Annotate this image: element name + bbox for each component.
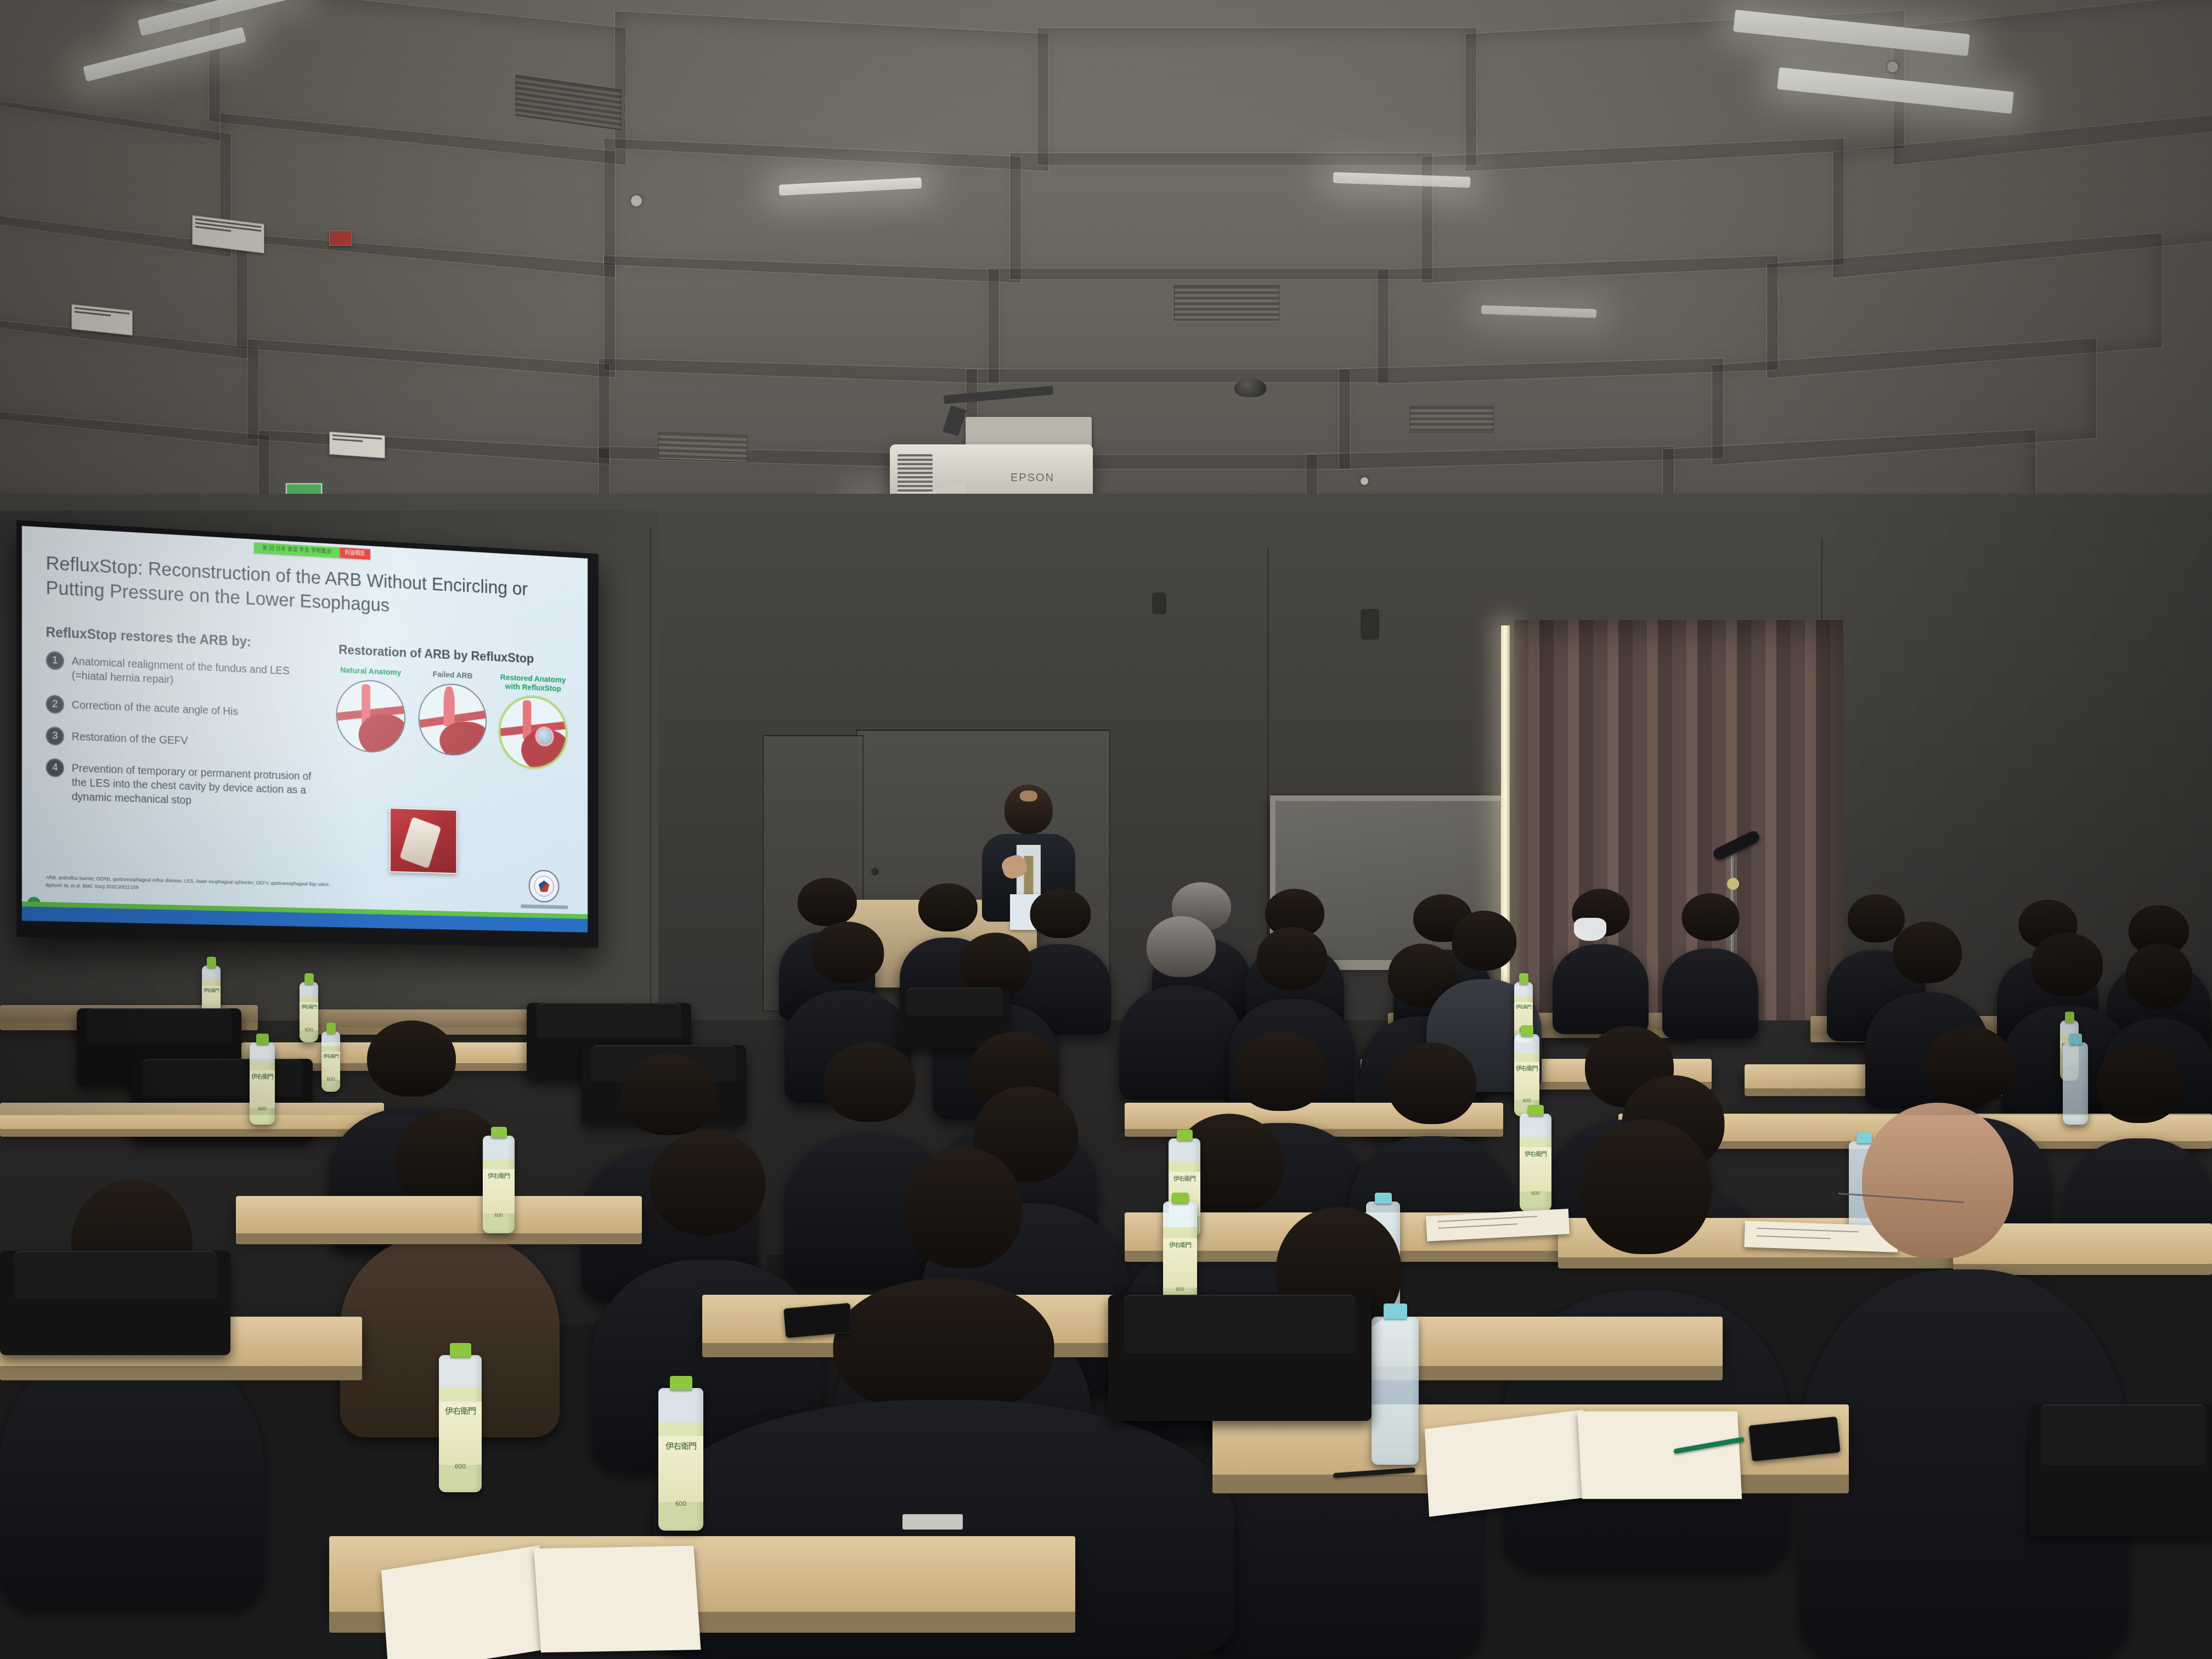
ceiling-sign-tag (329, 431, 385, 458)
bottle-volume-label: 600 (658, 1500, 703, 1508)
bottle-volume-label: 600 (483, 1212, 515, 1218)
anatomy-figure-failed: Failed ARB (416, 669, 489, 757)
figure-label: Restored Anatomy with RefluxStop (497, 673, 569, 694)
ceiling-sprinkler-head (1361, 477, 1368, 485)
smartphone[interactable] (783, 1303, 853, 1338)
footnote-reference: Bjelović M, et al. BMC Surg 2020;20(1):1… (46, 882, 138, 890)
slide-anatomy-figures: Natural Anatomy Failed ARB (334, 665, 569, 769)
figure-label: Failed ARB (416, 669, 489, 681)
bottle-brand-label: 伊右衛門 (1514, 1065, 1539, 1072)
bullet-text: Anatomical realignment of the fundus and… (72, 652, 315, 693)
refluxstop-device (537, 728, 552, 744)
slide-bullet-list: 1 Anatomical realignment of the fundus a… (46, 651, 315, 824)
lecture-room-photo: EPSON 第 回 日本 食道 学会 学術集会 利益相反 RefluxStop:… (0, 0, 2212, 1659)
ceiling-air-vent (658, 432, 747, 462)
bottle-brand-label: 伊右衛門 (658, 1442, 703, 1452)
door-knob[interactable] (871, 868, 879, 876)
bullet-text: Correction of the acute angle of His (72, 696, 238, 719)
green-tea-bottle[interactable]: 伊右衛門 600 (483, 1136, 515, 1233)
slide-title: RefluxStop: Reconstruction of the ARB Wi… (46, 551, 558, 627)
anatomy-illustration (419, 682, 487, 757)
desk (236, 1196, 642, 1234)
attendee (1553, 889, 1649, 1034)
projector-ceiling-plate (966, 417, 1092, 448)
banner-green-text: 第 回 日本 食道 学会 学術集会 (254, 543, 340, 558)
slide-footnote: ARB, antireflux barrier; GERD, gastroeso… (46, 874, 499, 900)
endoscopic-photo (390, 808, 457, 874)
bottle-brand-label: 伊右衛門 (439, 1407, 482, 1417)
shirt-collar (902, 1514, 963, 1530)
green-tea-bottle[interactable]: 伊右衛門 600 (300, 982, 318, 1042)
anatomy-illustration (336, 679, 405, 754)
green-tea-bottle[interactable]: 伊右衛門 600 (439, 1355, 482, 1492)
desk (0, 1103, 384, 1130)
attendee (1662, 893, 1758, 1039)
ceiling-dome-camera (1234, 379, 1266, 397)
bottle-volume-label: 600 (439, 1463, 482, 1470)
attendee-with-glasses (1799, 1103, 2129, 1659)
projector-brand-label: EPSON (1011, 472, 1054, 484)
desk (1229, 1602, 2211, 1659)
program-booklet[interactable] (1424, 1407, 1736, 1511)
face-mask (1574, 918, 1607, 941)
projector-vent (898, 454, 933, 495)
slide-top-banner: 第 回 日本 食道 学会 学術集会 利益相反 (254, 543, 370, 560)
bullet-item: 3 Restoration of the GEFV (46, 726, 315, 755)
bullet-item: 2 Correction of the acute angle of His (46, 695, 315, 724)
figure-label: Natural Anatomy (334, 665, 408, 678)
microphone-stand-knob[interactable] (1727, 878, 1739, 890)
ceiling-sprinkler-head (631, 195, 642, 206)
ceiling-air-vent (1410, 406, 1493, 432)
bullet-item: 1 Anatomical realignment of the fundus a… (46, 651, 315, 693)
ceiling-sign-tag (329, 230, 352, 246)
chair[interactable] (1108, 1295, 1372, 1421)
bottle-brand-label: 伊右衛門 (250, 1074, 275, 1080)
bottle-brand-label: 伊右衛門 (1169, 1176, 1200, 1182)
chair[interactable] (2030, 1404, 2212, 1536)
bullet-number: 4 (46, 758, 64, 777)
banner-red-text: 利益相反 (340, 548, 370, 560)
anatomy-figure-restored: Restored Anatomy with RefluxStop (497, 673, 569, 769)
bullet-number: 2 (46, 695, 64, 714)
anatomy-illustration (500, 695, 567, 769)
society-emblem-icon (529, 870, 560, 902)
bottle-brand-label: 伊右衛門 (1163, 1242, 1197, 1249)
green-tea-bottle[interactable]: 伊右衛門 600 (250, 1042, 275, 1125)
slide-subheading-left: RefluxStop restores the ARB by: (46, 625, 251, 651)
ceiling-air-vent (1174, 285, 1279, 320)
ceiling-sprinkler-head (1887, 61, 1898, 72)
bullet-text: Prevention of temporary or permanent pro… (72, 759, 315, 812)
bullet-number: 3 (46, 726, 64, 746)
bottle-brand-label: 伊右衛門 (202, 989, 221, 994)
presentation-slide: 第 回 日本 食道 学会 学術集会 利益相反 RefluxStop: Recon… (22, 526, 588, 933)
wall-speaker (1361, 609, 1379, 640)
bottle-brand-label: 伊右衛門 (1514, 1005, 1533, 1010)
wall-speaker (1152, 592, 1166, 614)
bottle-brand-label: 伊右衛門 (483, 1173, 515, 1180)
green-tea-bottle[interactable]: 伊右衛門 600 (1514, 1034, 1539, 1116)
bullet-number: 1 (46, 651, 64, 670)
green-tea-bottle[interactable]: 伊右衛門 600 (658, 1388, 703, 1531)
bottle-brand-label: 伊右衛門 (300, 1005, 318, 1010)
bottle-volume-label: 600 (250, 1106, 275, 1111)
emblem-caption (521, 905, 568, 910)
attendee (0, 1180, 263, 1607)
bullet-text: Restoration of the GEFV (72, 727, 188, 748)
slide-subheading-right: Restoration of ARB by RefluxStop (338, 642, 534, 667)
bottle-volume-label: 600 (1514, 1098, 1539, 1103)
bottle-volume-label: 600 (300, 1027, 318, 1032)
bullet-item: 4 Prevention of temporary or permanent p… (46, 758, 315, 811)
projection-screen: 第 回 日本 食道 学会 学術集会 利益相反 RefluxStop: Recon… (16, 520, 599, 948)
anatomy-figure-natural: Natural Anatomy (334, 665, 408, 754)
chair[interactable] (0, 1251, 230, 1355)
water-bottle[interactable] (1372, 1317, 1419, 1465)
